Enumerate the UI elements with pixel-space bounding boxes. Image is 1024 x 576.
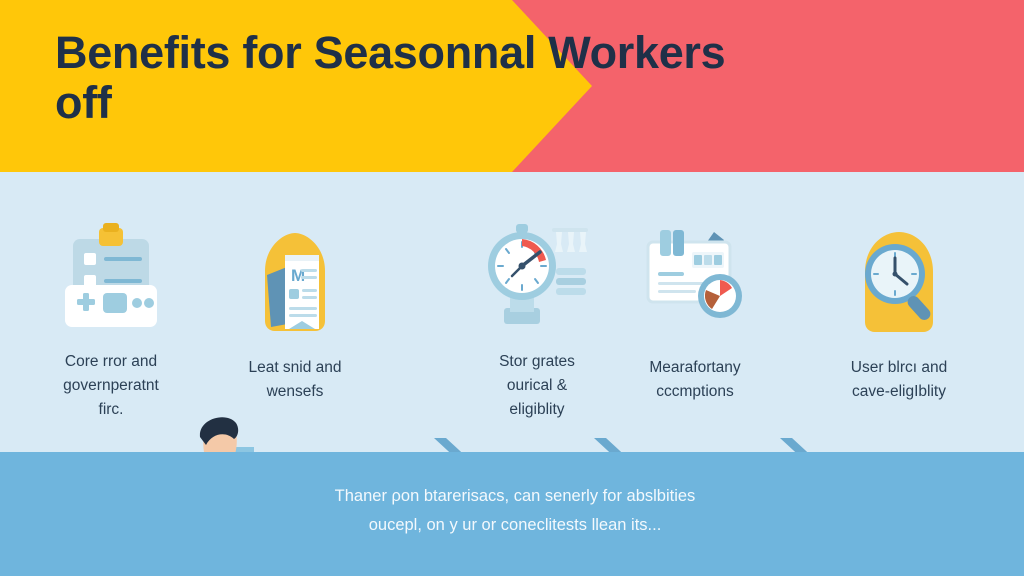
stopwatch-icon <box>482 220 592 334</box>
step-5[interactable]: User blrcı and cave-eligIblity <box>812 172 986 422</box>
step-3-label: Stor grates ourical & eligiblity <box>450 350 624 422</box>
step-1[interactable]: Core rror and governperatnt firc. <box>24 172 198 422</box>
process-steps-row: Core rror and governperatnt firc. <box>0 172 1024 452</box>
step-2-label: Leat snid and wensefs <box>208 356 382 404</box>
footer-banner: Thaner ρon btarerisacs, can senerly for … <box>0 452 1024 576</box>
footer-description: Thaner ρon btarerisacs, can senerly for … <box>265 482 765 540</box>
report-piechart-icon <box>640 220 750 340</box>
svg-text:M: M <box>291 266 305 285</box>
document-badge-icon: M <box>240 220 350 340</box>
step-4[interactable]: Mearafortany cccmptions <box>608 172 782 422</box>
infographic-canvas: Benefits for Seasonnal Workers off <box>0 0 1024 576</box>
clipboard-form-icon <box>56 220 166 334</box>
step-4-label: Mearafortany cccmptions <box>608 356 782 404</box>
magnifier-clock-icon <box>844 220 954 340</box>
step-1-label: Core rror and governperatnt firc. <box>24 350 198 422</box>
step-5-label: User blrcı and cave-eligIblity <box>812 356 986 404</box>
step-2[interactable]: M Leat snid and wensefs <box>208 172 382 422</box>
page-title: Benefits for Seasonnal Workers off <box>55 28 985 129</box>
step-3[interactable]: Stor grates ourical & eligiblity <box>450 172 624 422</box>
header-banner: Benefits for Seasonnal Workers off <box>0 0 1024 172</box>
